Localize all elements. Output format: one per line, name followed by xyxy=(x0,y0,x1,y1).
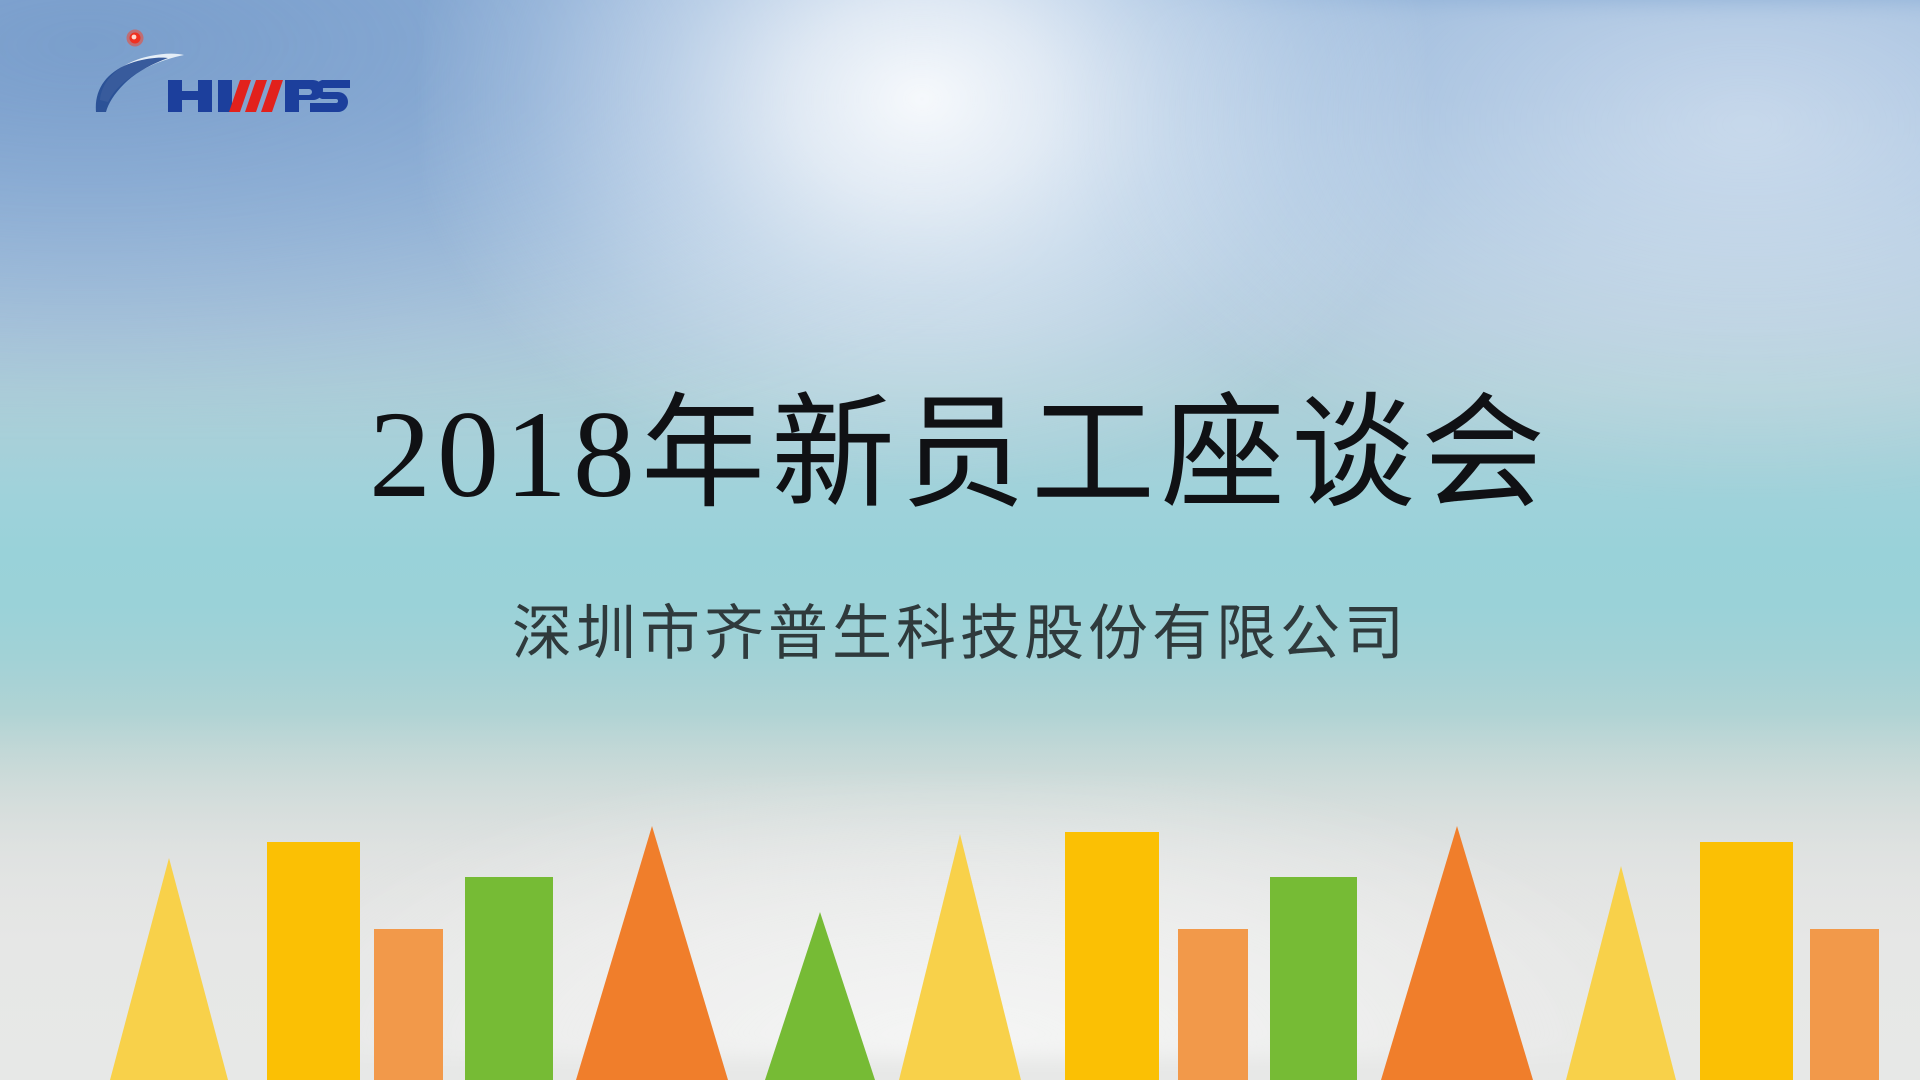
decorative-triangle xyxy=(1566,866,1676,1080)
logo-crescent-icon xyxy=(96,58,168,112)
decorative-bar xyxy=(1700,842,1793,1080)
slide-subtitle: 深圳市齐普生科技股份有限公司 xyxy=(0,598,1920,670)
decorative-bar xyxy=(374,929,443,1080)
slide-title: 2018年新员工座谈会 xyxy=(0,388,1920,522)
decorative-shape-band xyxy=(0,830,1920,1080)
company-logo xyxy=(88,26,358,112)
decorative-triangle xyxy=(576,826,728,1080)
presentation-slide: 2018年新员工座谈会 深圳市齐普生科技股份有限公司 xyxy=(0,0,1920,1080)
logo-wordmark xyxy=(168,80,350,112)
decorative-bar xyxy=(465,877,553,1080)
decorative-triangle xyxy=(1381,826,1533,1080)
title-block: 2018年新员工座谈会 深圳市齐普生科技股份有限公司 xyxy=(0,388,1920,670)
decorative-bar xyxy=(1065,832,1159,1080)
decorative-triangle xyxy=(110,858,228,1080)
decorative-triangle xyxy=(765,912,875,1080)
decorative-bar xyxy=(1270,877,1357,1080)
decorative-bar xyxy=(1178,929,1248,1080)
decorative-triangle xyxy=(899,834,1021,1080)
decorative-bar xyxy=(1810,929,1879,1080)
decorative-bar xyxy=(267,842,360,1080)
